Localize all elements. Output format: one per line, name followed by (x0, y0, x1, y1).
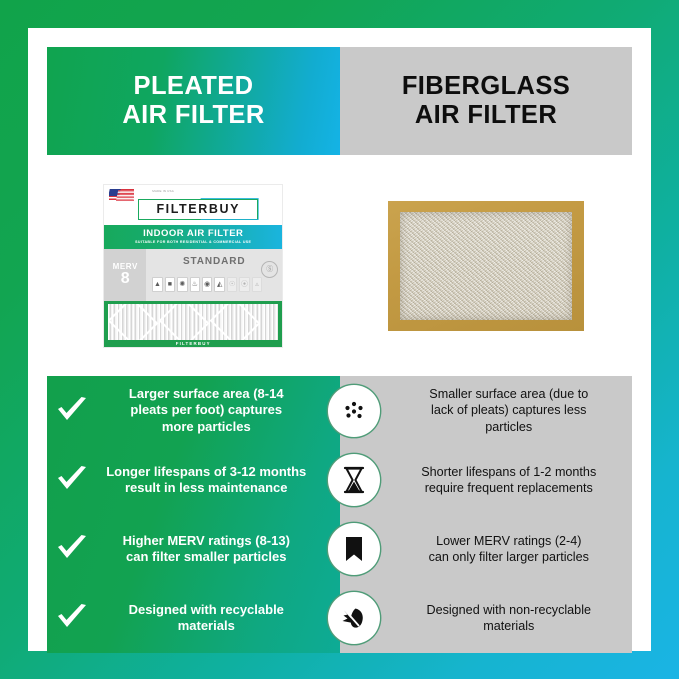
hourglass-icon (330, 456, 378, 504)
no-smoke-icon: Ⓢ (261, 261, 278, 278)
leaf-icon (330, 594, 378, 642)
made-in-usa-text: MADE IN USA (152, 190, 174, 194)
merv-spec-row: MERV 8 STANDARD ▲ ■ ✺ ♨ ◉ ◭ (104, 249, 282, 301)
smoke-icon: ◭ (214, 277, 224, 292)
comparison-row: Higher MERV ratings (8-13) can filter sm… (47, 515, 632, 584)
pleated-header-title: PLEATED AIR FILTER (122, 72, 264, 129)
fiberglass-drawback-text: Designed with non-recyclable materials (386, 602, 633, 635)
bookmark-icon (330, 525, 378, 573)
merv-badge: MERV 8 (104, 249, 146, 301)
checkmark-icon (47, 465, 97, 495)
filterbuy-logo: FILTERBUY (138, 199, 258, 220)
product-images-row: MADE IN USA FILTERBUY INDOOR AIR FILTER … (47, 163, 632, 368)
pleat-footer-brand: FILTERBUY (104, 341, 282, 346)
pleat-diamond (108, 304, 158, 340)
indoor-air-filter-band: INDOOR AIR FILTER SUITABLE FOR BOTH RESI… (104, 225, 282, 249)
row-center-icon (322, 456, 386, 504)
band-subtitle: SUITABLE FOR BOTH RESIDENTIAL & COMMERCI… (104, 240, 282, 244)
comparison-panel: Larger surface area (8-14 pleats per foo… (47, 376, 632, 653)
merv-value: 8 (121, 271, 130, 287)
dust-icon: ▲ (152, 277, 162, 292)
pleated-benefit-text: Longer lifespans of 3-12 months result i… (97, 464, 322, 497)
row-center-icon (322, 594, 386, 642)
grade-column: STANDARD ▲ ■ ✺ ♨ ◉ ◭ ☉ ⦿ ▵ (146, 249, 282, 301)
comparison-row: Larger surface area (8-14 pleats per foo… (47, 376, 632, 445)
filterbuy-logo-text: FILTERBUY (156, 202, 240, 216)
comparison-row: Longer lifespans of 3-12 months result i… (47, 445, 632, 514)
fiberglass-drawback-text: Lower MERV ratings (2-4) can only filter… (386, 533, 633, 566)
gradient-border-frame: PLEATED AIR FILTER FIBERGLASS AIR FILTER… (0, 0, 679, 679)
pleated-box-top: MADE IN USA FILTERBUY (104, 185, 282, 225)
pleated-filter-image: MADE IN USA FILTERBUY INDOOR AIR FILTER … (104, 185, 282, 347)
dander-icon: ◉ (202, 277, 212, 292)
header-bar: PLEATED AIR FILTER FIBERGLASS AIR FILTER (47, 47, 632, 155)
pleated-benefit-text: Designed with recyclable materials (97, 602, 322, 635)
white-card: PLEATED AIR FILTER FIBERGLASS AIR FILTER… (28, 28, 651, 651)
fiberglass-filter-image (388, 201, 584, 331)
pleated-benefit-text: Higher MERV ratings (8-13) can filter sm… (97, 533, 322, 566)
row-center-icon (322, 525, 386, 573)
lint-icon: ■ (165, 277, 175, 292)
pleat-diamond (210, 304, 261, 340)
fiberglass-mesh (400, 212, 572, 320)
usa-flag-icon (109, 189, 134, 202)
fiberglass-product-cell (340, 163, 633, 368)
mold-icon: ♨ (190, 277, 200, 292)
odor-icon: ▵ (252, 277, 262, 292)
band-title: INDOOR AIR FILTER (104, 228, 282, 239)
fiberglass-drawback-text: Smaller surface area (due to lack of ple… (386, 386, 633, 435)
fiberglass-header-title: FIBERGLASS AIR FILTER (402, 72, 570, 129)
pleat-media-area: FILTERBUY (104, 301, 282, 347)
comparison-row: Designed with recyclable materials Desig… (47, 584, 632, 653)
pleat-mesh (108, 304, 278, 340)
checkmark-icon (47, 534, 97, 564)
fiberglass-drawback-text: Shorter lifespans of 1-2 months require … (386, 464, 633, 497)
virus-icon: ⦿ (239, 277, 249, 292)
capture-icon-row: ▲ ■ ✺ ♨ ◉ ◭ ☉ ⦿ ▵ (152, 277, 262, 292)
checkmark-icon (47, 396, 97, 426)
pleated-product-cell: MADE IN USA FILTERBUY INDOOR AIR FILTER … (47, 163, 340, 368)
checkmark-icon (47, 603, 97, 633)
header-right-fiberglass: FIBERGLASS AIR FILTER (340, 47, 632, 155)
pollen-icon: ✺ (177, 277, 187, 292)
particles-icon (330, 387, 378, 435)
row-center-icon (322, 387, 386, 435)
bacteria-icon: ☉ (227, 277, 237, 292)
pleated-benefit-text: Larger surface area (8-14 pleats per foo… (97, 386, 322, 435)
header-left-pleated: PLEATED AIR FILTER (47, 47, 340, 155)
pleat-diamond (159, 304, 210, 340)
